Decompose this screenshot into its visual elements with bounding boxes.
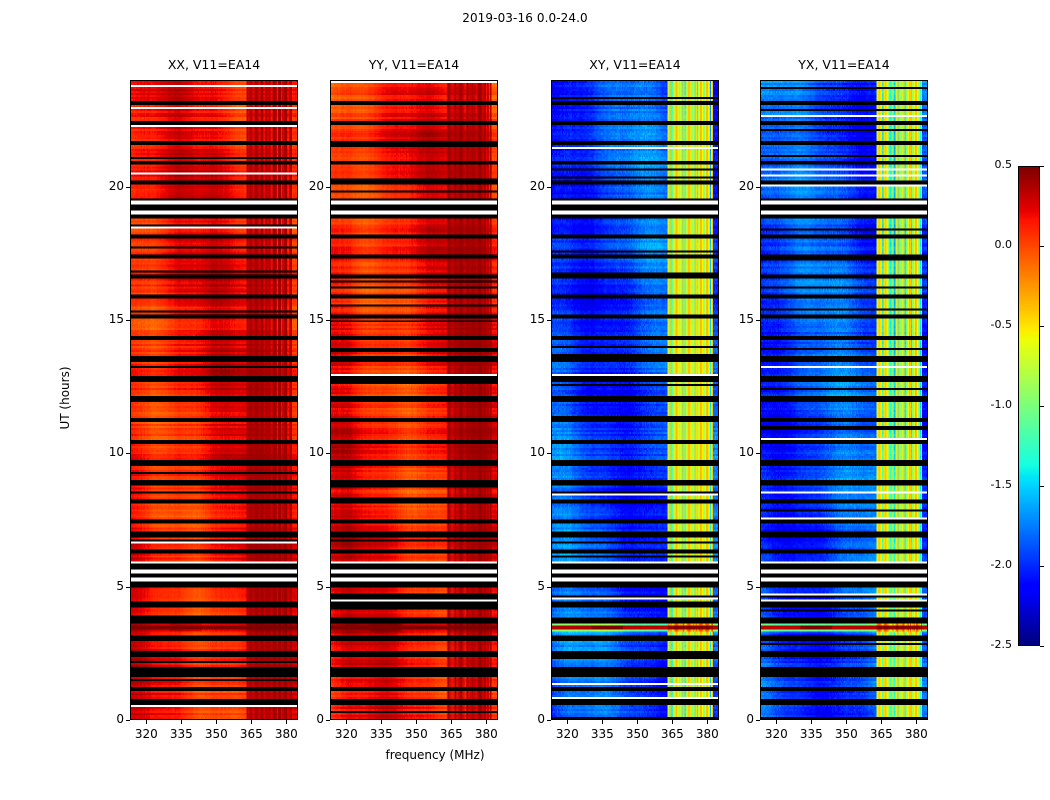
colorbar-tickmark	[1040, 486, 1044, 487]
y-tickmark	[756, 453, 760, 454]
colorbar-tickmark	[1040, 166, 1044, 167]
colorbar-tick-label: -2.5	[968, 638, 1012, 651]
colorbar-tick-label: -1.5	[968, 478, 1012, 491]
y-tick-label: 15	[284, 312, 324, 326]
y-tick-label: 20	[84, 179, 124, 193]
y-tick-label: 10	[505, 445, 545, 459]
y-tickmark	[547, 320, 551, 321]
x-tickmark	[567, 720, 568, 724]
panel-title-xx: XX, V11=EA14	[130, 57, 298, 72]
colorbar-gradient	[1019, 167, 1039, 645]
x-tick-label: 380	[261, 727, 311, 741]
y-tickmark	[547, 453, 551, 454]
x-tickmark	[707, 720, 708, 724]
y-tick-label: 15	[505, 312, 545, 326]
y-tickmark	[756, 720, 760, 721]
y-tickmark	[547, 720, 551, 721]
colorbar-tick-label: -0.5	[968, 318, 1012, 331]
x-tickmark	[251, 720, 252, 724]
x-tickmark	[916, 720, 917, 724]
colorbar-tickmark	[1040, 406, 1044, 407]
y-tickmark	[126, 453, 130, 454]
y-tickmark	[126, 187, 130, 188]
y-tick-label: 5	[284, 579, 324, 593]
waterfall-image-xy	[552, 81, 718, 719]
figure-suptitle: 2019-03-16 0.0-24.0	[0, 11, 1050, 25]
y-tick-label: 10	[714, 445, 754, 459]
x-tick-label: 380	[682, 727, 732, 741]
waterfall-image-yx	[761, 81, 927, 719]
y-tickmark	[326, 320, 330, 321]
colorbar-tick-label: -2.0	[968, 558, 1012, 571]
y-tickmark	[126, 320, 130, 321]
x-tickmark	[881, 720, 882, 724]
x-tickmark	[811, 720, 812, 724]
y-tick-label: 15	[84, 312, 124, 326]
y-tick-label: 0	[284, 712, 324, 726]
y-tick-label: 10	[84, 445, 124, 459]
y-tick-label: 15	[714, 312, 754, 326]
colorbar-tickmark	[1040, 646, 1044, 647]
colorbar-tick-label: 0.0	[968, 238, 1012, 251]
y-tick-label: 0	[505, 712, 545, 726]
y-tick-label: 10	[284, 445, 324, 459]
x-tick-label: 380	[461, 727, 511, 741]
y-tickmark	[547, 587, 551, 588]
y-axis-label: UT (hours)	[58, 328, 72, 468]
y-tickmark	[126, 587, 130, 588]
x-tickmark	[181, 720, 182, 724]
figure-canvas: 2019-03-16 0.0-24.0 XX, V11=EA1432033535…	[0, 0, 1050, 800]
y-tickmark	[326, 587, 330, 588]
x-tick-label: 380	[891, 727, 941, 741]
spectrum-panel-xy	[551, 80, 719, 720]
x-tickmark	[146, 720, 147, 724]
y-tick-label: 20	[284, 179, 324, 193]
spectrum-panel-yy	[330, 80, 498, 720]
x-tickmark	[381, 720, 382, 724]
y-tickmark	[326, 720, 330, 721]
x-tickmark	[637, 720, 638, 724]
x-tickmark	[846, 720, 847, 724]
panel-title-yx: YX, V11=EA14	[760, 57, 928, 72]
y-tickmark	[326, 453, 330, 454]
colorbar-tickmark	[1040, 566, 1044, 567]
x-tickmark	[672, 720, 673, 724]
colorbar-tickmark	[1040, 246, 1044, 247]
y-tick-label: 0	[714, 712, 754, 726]
y-tickmark	[756, 587, 760, 588]
y-tick-label: 5	[84, 579, 124, 593]
colorbar-tick-label: 0.5	[968, 158, 1012, 171]
y-tick-label: 20	[505, 179, 545, 193]
spectrum-panel-xx	[130, 80, 298, 720]
colorbar-tick-label: -1.0	[968, 398, 1012, 411]
panel-title-xy: XY, V11=EA14	[551, 57, 719, 72]
y-tickmark	[126, 720, 130, 721]
y-tickmark	[547, 187, 551, 188]
colorbar-tickmark	[1040, 326, 1044, 327]
colorbar	[1018, 166, 1040, 646]
x-tickmark	[451, 720, 452, 724]
x-tickmark	[216, 720, 217, 724]
y-tickmark	[326, 187, 330, 188]
y-tick-label: 0	[84, 712, 124, 726]
y-tickmark	[756, 187, 760, 188]
x-axis-label: frequency (MHz)	[330, 748, 540, 762]
spectrum-panel-yx	[760, 80, 928, 720]
x-tickmark	[346, 720, 347, 724]
x-tickmark	[602, 720, 603, 724]
y-tick-label: 5	[505, 579, 545, 593]
x-tickmark	[776, 720, 777, 724]
waterfall-image-yy	[331, 81, 497, 719]
y-tickmark	[756, 320, 760, 321]
y-tick-label: 20	[714, 179, 754, 193]
x-tickmark	[486, 720, 487, 724]
waterfall-image-xx	[131, 81, 297, 719]
x-tickmark	[416, 720, 417, 724]
panel-title-yy: YY, V11=EA14	[330, 57, 498, 72]
y-tick-label: 5	[714, 579, 754, 593]
